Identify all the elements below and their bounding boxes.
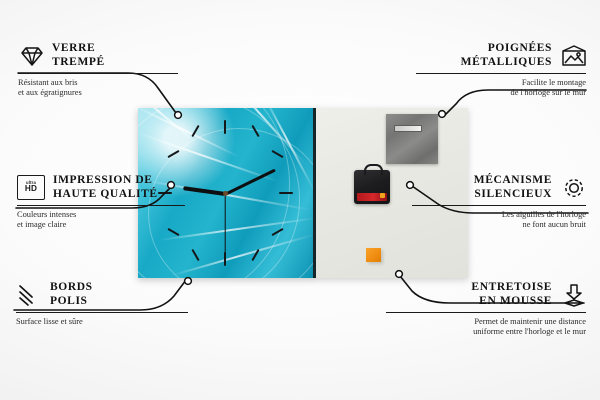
feature-subtitle: Permet de maintenir une distance uniform… [386, 317, 586, 337]
feature-bords-polis: BORDS POLIS Surface lisse et sûre [16, 281, 196, 327]
feature-poignees-metalliques: POIGNÉES MÉTALLIQUES Facilite le montage… [416, 42, 586, 98]
clock-mechanism [354, 170, 390, 204]
feature-title: IMPRESSION DE HAUTE QUALITÉ [53, 174, 158, 201]
hour-mark [191, 125, 199, 137]
feature-title: POIGNÉES MÉTALLIQUES [461, 42, 552, 69]
hour-mark [224, 120, 226, 134]
gear-icon [560, 176, 586, 200]
battery-plus-terminal [380, 193, 385, 198]
ultra-hd-icon: ultra HD [17, 175, 45, 200]
down-arrow-stack-icon [560, 283, 586, 307]
hour-mark [224, 252, 226, 266]
hanging-frame-icon [560, 44, 586, 68]
feature-divider [386, 312, 586, 313]
mechanism-loop [364, 164, 383, 175]
feature-verre-trempe: VERRE TREMPÉ Résistant aux bris et aux é… [18, 42, 190, 98]
feature-subtitle: Surface lisse et sûre [16, 317, 196, 327]
battery [357, 193, 387, 201]
feature-title: ENTRETOISE EN MOUSSE [471, 281, 552, 308]
hour-mark [271, 228, 283, 236]
ultra-hd-icon-main-text: HD [25, 185, 37, 194]
feature-divider [18, 73, 178, 74]
feature-divider [17, 205, 185, 206]
polished-edges-icon [16, 283, 42, 307]
feature-title: VERRE TREMPÉ [52, 42, 105, 69]
minute-hand [224, 168, 276, 196]
hour-mark [279, 192, 293, 194]
hanger-plate [386, 114, 438, 164]
hour-mark [191, 249, 199, 261]
hanger-slot [394, 125, 422, 132]
hour-mark [271, 150, 283, 158]
feature-subtitle: Les aiguilles de l'horloge ne font aucun… [412, 210, 586, 230]
hour-mark [167, 150, 179, 158]
feature-divider [16, 312, 188, 313]
feature-title: MÉCANISME SILENCIEUX [474, 174, 552, 201]
feature-divider [412, 205, 586, 206]
feature-subtitle: Résistant aux bris et aux égratignures [18, 78, 190, 98]
hour-mark [251, 125, 259, 137]
feature-subtitle: Couleurs intenses et image claire [17, 210, 193, 230]
clock-center-hub [223, 191, 228, 196]
infographic-canvas: VERRE TREMPÉ Résistant aux bris et aux é… [0, 0, 600, 400]
feature-subtitle: Facilite le montage de l'horloge sur le … [416, 78, 586, 98]
feature-impression-haute-qualite: ultra HD IMPRESSION DE HAUTE QUALITÉ Cou… [17, 174, 193, 230]
feature-title: BORDS POLIS [50, 281, 93, 308]
feature-entretoise-en-mousse: ENTRETOISE EN MOUSSE Permet de maintenir… [386, 281, 586, 337]
second-hand [224, 194, 225, 254]
feature-mecanisme-silencieux: MÉCANISME SILENCIEUX Les aiguilles de l'… [412, 174, 586, 230]
feature-divider [416, 73, 586, 74]
diamond-icon [18, 44, 44, 68]
foam-spacer [366, 248, 381, 262]
hour-mark [251, 249, 259, 261]
